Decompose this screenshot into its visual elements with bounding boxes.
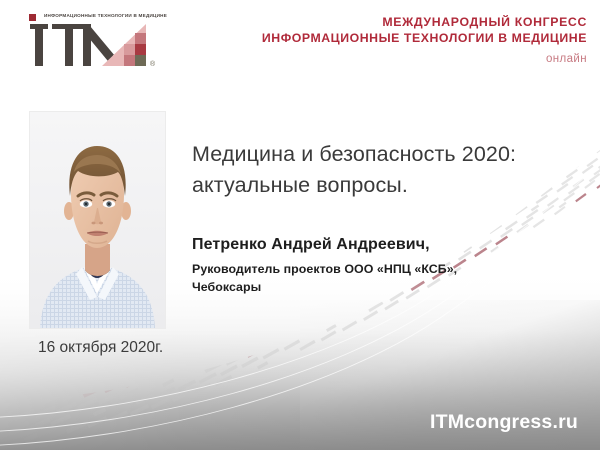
portrait-illustration xyxy=(30,112,165,328)
talk-title-line2: актуальные вопросы. xyxy=(192,170,592,201)
speaker-portrait xyxy=(30,112,165,328)
congress-header: МЕЖДУНАРОДНЫЙ КОНГРЕСС ИНФОРМАЦИОННЫЕ ТЕ… xyxy=(262,14,587,65)
congress-title-line2: ИНФОРМАЦИОННЫЕ ТЕХНОЛОГИИ В МЕДИЦИНЕ xyxy=(262,30,587,46)
congress-online-label: онлайн xyxy=(262,53,587,65)
congress-title-line1: МЕЖДУНАРОДНЫЙ КОНГРЕСС xyxy=(262,14,587,30)
logo-registered-mark: ® xyxy=(150,60,156,68)
logo-bullet-icon xyxy=(29,14,36,21)
event-date: 16 октября 2020г. xyxy=(38,339,163,357)
logo-tagline: ИНФОРМАЦИОННЫЕ ТЕХНОЛОГИИ В МЕДИЦИНЕ xyxy=(44,13,167,18)
talk-title: Медицина и безопасность 2020: актуальные… xyxy=(192,139,592,201)
talk-title-line1: Медицина и безопасность 2020: xyxy=(192,139,592,170)
speaker-role: Руководитель проектов ООО «НПЦ «КСБ», Че… xyxy=(192,261,522,296)
logo-mark-icon: ® xyxy=(28,22,163,72)
speaker-name: Петренко Андрей Андреевич, xyxy=(192,236,430,254)
speaker-role-line1: Руководитель проектов ООО «НПЦ «КСБ», xyxy=(192,261,522,279)
website-url: ITMcongress.ru xyxy=(430,411,578,434)
presentation-slide: ИНФОРМАЦИОННЫЕ ТЕХНОЛОГИИ В МЕДИЦИНЕ ® М… xyxy=(0,0,600,450)
itm-logo: ИНФОРМАЦИОННЫЕ ТЕХНОЛОГИИ В МЕДИЦИНЕ ® xyxy=(28,13,163,71)
speaker-role-line2: Чебоксары xyxy=(192,279,522,297)
